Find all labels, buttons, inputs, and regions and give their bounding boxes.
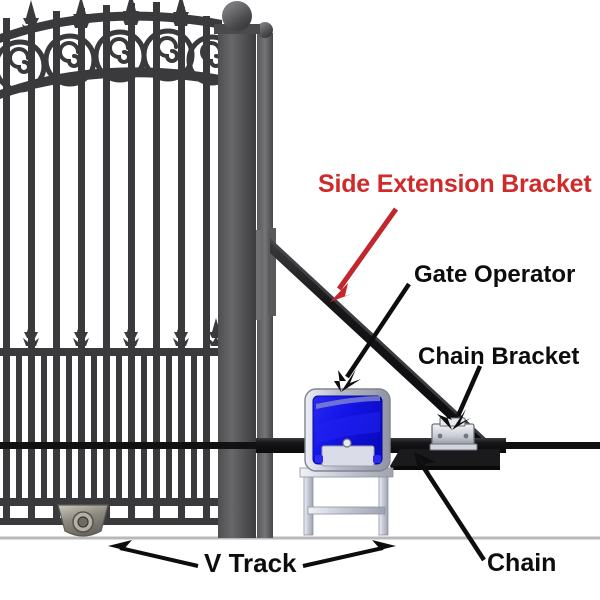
label-chain-bracket: Chain Bracket	[418, 345, 579, 369]
operator-body	[305, 389, 390, 471]
chain	[0, 438, 600, 470]
chain-bracket-arrow	[437, 366, 480, 430]
gate-rail-upper	[0, 348, 232, 356]
side-extension-bracket-arrow	[330, 209, 396, 302]
label-chain: Chain	[487, 551, 556, 576]
gate-rail-lower	[0, 498, 232, 506]
diagram-canvas: Side Extension Bracket Gate Operator Cha…	[0, 0, 600, 600]
gate-scroll-band	[0, 12, 235, 99]
label-side-extension-bracket: Side Extension Bracket	[318, 172, 591, 197]
v-wheel-roller	[58, 505, 108, 536]
label-v-track: V Track	[204, 550, 297, 576]
gate-rail-bottom	[0, 518, 232, 525]
gate-operator-arrow	[334, 284, 409, 392]
v-track-arrow-left	[108, 540, 198, 566]
label-gate-operator: Gate Operator	[414, 263, 575, 287]
diagram-artwork	[0, 0, 600, 600]
gate-post	[214, 1, 260, 538]
chain-bracket-clamp	[430, 418, 477, 450]
v-track-arrow-right	[303, 540, 396, 566]
operator-stand	[300, 468, 393, 535]
gate-operator	[300, 389, 393, 535]
